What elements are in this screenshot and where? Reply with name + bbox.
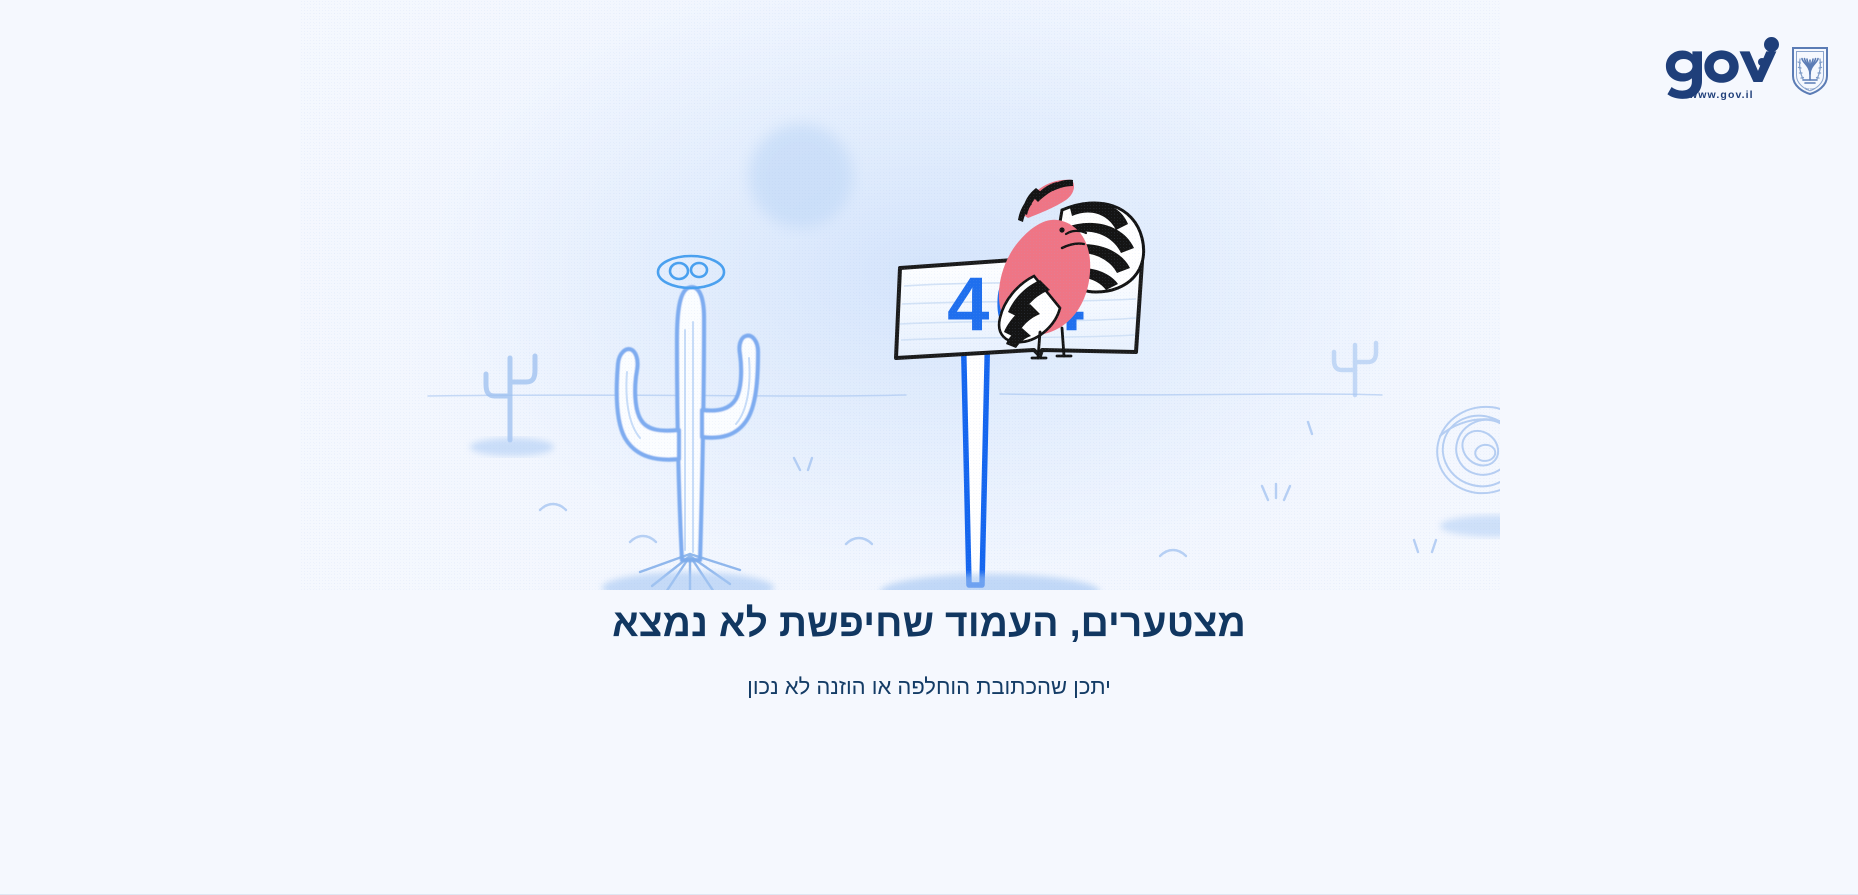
page-title: מצטערים, העמוד שחיפשת לא נמצא: [0, 600, 1858, 649]
tumbleweed-shadow: [1440, 515, 1500, 537]
gov-il-logo-link[interactable]: www.gov.il: [1661, 36, 1829, 102]
main-cactus: [602, 256, 774, 590]
signpost-post: [963, 320, 988, 585]
small-cactus-left-shadow: [470, 438, 554, 456]
error-copy-block: מצטערים, העמוד שחיפשת לא נמצא יתכן שהכתו…: [0, 600, 1858, 701]
horizon-line: [428, 394, 1382, 396]
small-cactus-right: [1334, 343, 1376, 395]
desert-404-illustration: 404: [300, 0, 1500, 590]
signpost-shadow: [880, 574, 1100, 590]
svg-text:ישראל: ישראל: [1805, 87, 1815, 91]
gov-wordmark-icon: www.gov.il: [1661, 36, 1779, 102]
small-cactus-left: [486, 356, 535, 440]
svg-text:www.gov.il: www.gov.il: [1688, 89, 1754, 101]
page-subtitle: יתכן שהכתובת הוחלפה או הוזנה לא נכון: [0, 673, 1858, 702]
cactus-flower: [658, 256, 724, 288]
main-cactus-shadow: [602, 572, 774, 590]
sun-shape: [749, 124, 853, 228]
israel-state-emblem-icon: ישראל: [1791, 46, 1829, 96]
tumbleweed-scribble: [1429, 398, 1500, 502]
